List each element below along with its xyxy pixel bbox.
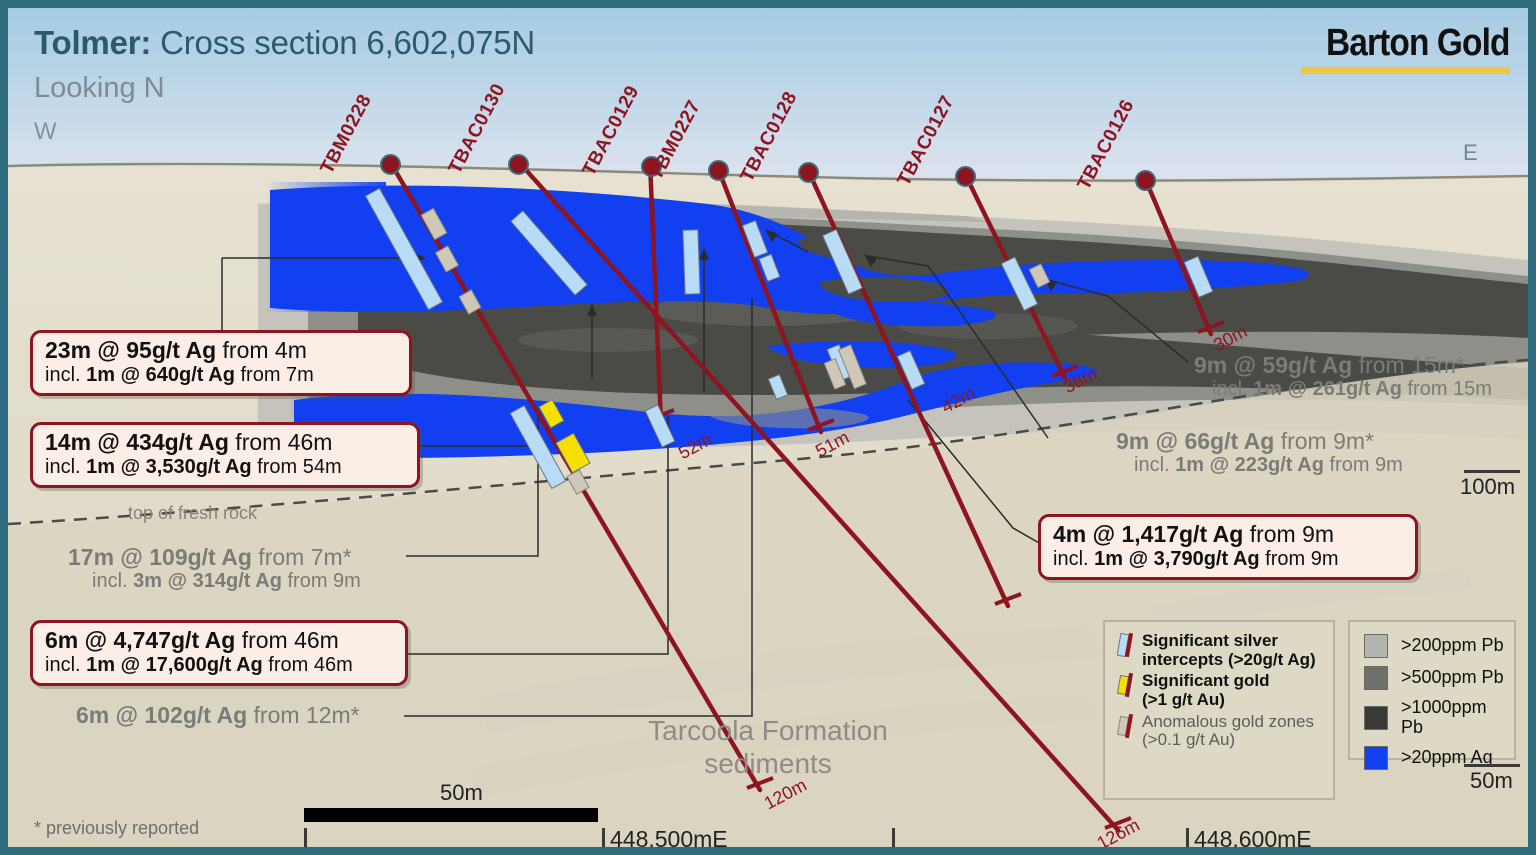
swatch-ag20-icon: [1364, 746, 1388, 770]
legend-silver-l1: Significant silver: [1142, 632, 1316, 651]
lightblue-bar-icon: [1117, 632, 1135, 658]
logo-text: Barton Gold: [1326, 22, 1510, 65]
i6-line2-rest: from 15m: [1402, 378, 1492, 400]
i2-line2-pre: incl.: [45, 456, 86, 478]
depth-tick-100m: [1464, 470, 1520, 473]
i6-line2-pre: incl.: [1212, 378, 1253, 400]
depth-label-50m: 50m: [1470, 768, 1513, 794]
i4-line2-bold: 1m @ 17,600g/t Ag: [86, 654, 263, 676]
i3-line2-rest: from 9m: [282, 570, 361, 592]
page-title: Tolmer: Cross section 6,602,075N: [34, 24, 535, 62]
i6-line2-bold: 1m @ 261g/t Ag: [1253, 378, 1402, 400]
i1-line1-rest: from 4m: [216, 337, 307, 363]
i4-line1-rest: from 46m: [235, 627, 339, 653]
coord-label-448600: 448,600mE: [1194, 826, 1312, 847]
legend-pb200: >200ppm Pb: [1364, 634, 1504, 658]
collar-TBAC0127[interactable]: [955, 166, 976, 187]
legend-pb1000-label: >1000ppm Pb: [1401, 698, 1504, 738]
legend-item-gold: Significant gold (>1 g/t Au): [1117, 672, 1323, 709]
collar-TBAC0126[interactable]: [1135, 170, 1156, 191]
coord-tick-left: [304, 828, 307, 847]
i8-line1-rest: from 9m: [1243, 521, 1334, 547]
legend-pb500: >500ppm Pb: [1364, 666, 1504, 690]
i2-line1-bold: 14m @ 434g/t Ag: [45, 429, 229, 455]
i2-line1-rest: from 46m: [229, 429, 333, 455]
legend-item-anomalous: Anomalous gold zones (>0.1 g/t Au): [1117, 713, 1323, 750]
barton-gold-logo: Barton Gold: [1301, 22, 1510, 74]
intercept-text-6: 9m @ 59g/t Ag from 15m* incl. 1m @ 261g/…: [1194, 352, 1492, 401]
east-label: E: [1463, 140, 1478, 166]
intercept-callout-8: 4m @ 1,417g/t Ag from 9m incl. 1m @ 3,79…: [1038, 514, 1418, 580]
i5-line1-rest: from 12m*: [247, 702, 359, 728]
top-of-fresh-rock-label: top of fresh rock: [128, 503, 257, 524]
swatch-pb1000-icon: [1364, 706, 1388, 730]
i7-line2-pre: incl.: [1134, 454, 1175, 476]
i8-line2-bold: 1m @ 3,790g/t Ag: [1094, 548, 1259, 570]
i8-line1-bold: 4m @ 1,417g/t Ag: [1053, 521, 1243, 547]
i1-line2-rest: from 7m: [235, 364, 314, 386]
i2-line2-bold: 1m @ 3,530g/t Ag: [86, 456, 251, 478]
intercept-text-3: 17m @ 109g/t Ag from 7m* incl. 3m @ 314g…: [68, 544, 361, 593]
title-bold: Tolmer:: [34, 24, 151, 61]
depth-label-100m: 100m: [1460, 474, 1515, 500]
coord-tick-mid: [892, 828, 895, 847]
collar-TBM0227[interactable]: [708, 160, 729, 181]
i1-line2-bold: 1m @ 640g/t Ag: [86, 364, 235, 386]
i3-line1-bold: 17m @ 109g/t Ag: [68, 544, 252, 570]
legend-gold-l2: (>1 g/t Au): [1142, 691, 1270, 710]
i6-line1-rest: from 15m*: [1352, 352, 1464, 378]
i5-line1-bold: 6m @ 102g/t Ag: [76, 702, 247, 728]
i3-line1-rest: from 7m*: [252, 544, 352, 570]
i6-line1-bold: 9m @ 59g/t Ag: [1194, 352, 1352, 378]
legend-pb1000: >1000ppm Pb: [1364, 698, 1504, 738]
i4-line2-rest: from 46m: [263, 654, 353, 676]
i7-line1-rest: from 9m*: [1274, 428, 1374, 454]
intercept-text-5: 6m @ 102g/t Ag from 12m*: [76, 702, 360, 728]
legend-geochem: >200ppm Pb >500ppm Pb >1000ppm Pb >20ppm…: [1348, 620, 1516, 760]
i7-line2-bold: 1m @ 223g/t Ag: [1175, 454, 1324, 476]
i8-line2-rest: from 9m: [1260, 548, 1339, 570]
i1-line2-pre: incl.: [45, 364, 86, 386]
formation-line2: sediments: [628, 747, 908, 780]
legend-anom-l1: Anomalous gold zones: [1142, 713, 1314, 732]
i3-line2-pre: incl.: [92, 570, 133, 592]
legend-silver-l2: intercepts (>20g/t Ag): [1142, 651, 1316, 670]
cross-section-figure: Tolmer: Cross section 6,602,075N Looking…: [0, 0, 1536, 855]
collar-TBAC0128[interactable]: [798, 162, 819, 183]
legend-symbols: Significant silver intercepts (>20g/t Ag…: [1103, 620, 1335, 800]
scale-bar: [304, 808, 598, 822]
title-rest: Cross section 6,602,075N: [151, 24, 535, 61]
i7-line1-bold: 9m @ 66g/t Ag: [1116, 428, 1274, 454]
intercept-callout-2: 14m @ 434g/t Ag from 46m incl. 1m @ 3,53…: [30, 422, 420, 488]
i7-line2-rest: from 9m: [1324, 454, 1403, 476]
i8-line2-pre: incl.: [1053, 548, 1094, 570]
collar-TBAC0130[interactable]: [508, 154, 529, 175]
depth-tick-50m: [1464, 764, 1520, 767]
intercept-callout-1: 23m @ 95g/t Ag from 4m incl. 1m @ 640g/t…: [30, 330, 412, 396]
swatch-pb500-icon: [1364, 666, 1388, 690]
coord-label-448500: 448,500mE: [610, 826, 728, 847]
legend-gold-l1: Significant gold: [1142, 672, 1270, 691]
legend-pb200-label: >200ppm Pb: [1401, 636, 1504, 656]
intercept-callout-4: 6m @ 4,747g/t Ag from 46m incl. 1m @ 17,…: [30, 620, 408, 686]
formation-line1: Tarcoola Formation: [628, 714, 908, 747]
scale-bar-label: 50m: [440, 780, 483, 806]
i4-line1-bold: 6m @ 4,747g/t Ag: [45, 627, 235, 653]
i3-line2-bold: 3m @ 314g/t Ag: [133, 570, 282, 592]
i4-line2-pre: incl.: [45, 654, 86, 676]
west-label: W: [34, 118, 57, 146]
swatch-pb200-icon: [1364, 634, 1388, 658]
formation-label: Tarcoola Formation sediments: [628, 714, 908, 780]
i2-line2-rest: from 54m: [252, 456, 342, 478]
subtitle: Looking N: [34, 72, 165, 105]
coord-tick-448600: [1186, 828, 1189, 847]
grey-bar-icon: [1117, 713, 1135, 739]
legend-item-silver: Significant silver intercepts (>20g/t Ag…: [1117, 632, 1323, 669]
yellow-bar-icon: [1117, 672, 1135, 698]
legend-anom-l2: (>0.1 g/t Au): [1142, 731, 1314, 750]
i1-line1-bold: 23m @ 95g/t Ag: [45, 337, 216, 363]
collar-TBM0228[interactable]: [380, 154, 401, 175]
logo-underline: [1301, 67, 1510, 74]
coord-tick-448500: [602, 828, 605, 847]
intercept-text-7: 9m @ 66g/t Ag from 9m* incl. 1m @ 223g/t…: [1116, 428, 1403, 477]
legend-pb500-label: >500ppm Pb: [1401, 668, 1504, 688]
footnote: * previously reported: [34, 818, 199, 839]
